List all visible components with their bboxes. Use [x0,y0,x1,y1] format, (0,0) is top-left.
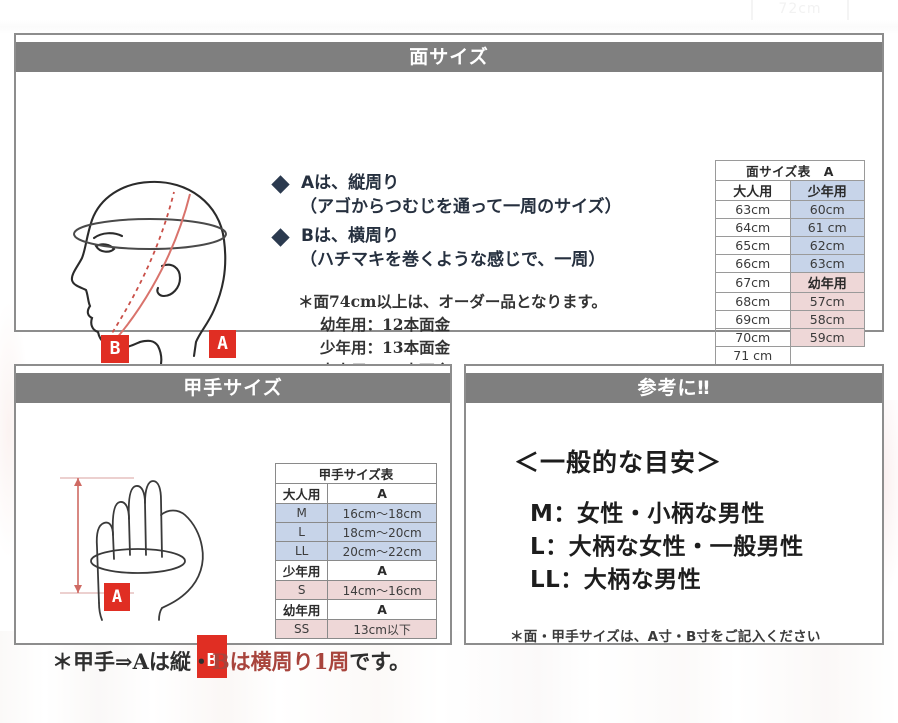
face-cell-youth: 62cm [790,237,865,255]
glove-caption: ＊甲手⇒Aは縦・Bは横周り1周です。 [52,646,410,676]
table-row: L18cm〜20cm [276,523,437,542]
glove-youth-range: 14cm〜16cm [328,581,437,600]
face-note-1: 幼年用：12本面金 [298,313,698,336]
face-note-0: ＊面74cm以上は、オーダー品となります。 [298,290,698,313]
face-cell-youth: 63cm [790,255,865,273]
glove-adult-range: 18cm〜20cm [328,523,437,542]
reference-item-l: L：大柄な女性・一般男性 [530,531,804,564]
glove-adult-range: 16cm〜18cm [328,504,437,523]
face-cell-adult: 69cm [716,311,791,329]
reference-item-ll: LL：大柄な男性 [530,564,804,597]
table-row: 67cm幼年用 [716,273,865,293]
glove-youth-range: A [328,600,437,620]
glove-adult-head: 甲手サイズ表 大人用 A [276,464,437,504]
face-cell-adult: 66cm [716,255,791,273]
face-size-body: B A Aは、縦周り （アゴからつむじを通って一周のサイズ） Bは、横周り （ハ… [16,72,882,330]
table-row: LL20cm〜22cm [276,542,437,561]
face-bullet-b: Bは、横周り [274,225,704,247]
table-row: S14cm〜16cm [276,581,437,600]
table-row: 69cm58cm [716,311,865,329]
table-row: 65cm62cm [716,237,865,255]
face-table-header-adult: 大人用 [716,181,791,201]
glove-measurement-diagram: A B [42,463,267,638]
glove-youth-range: A [328,561,437,581]
table-row: 71 cm [716,347,865,365]
face-cell-youth: 60cm [790,201,865,219]
face-size-panel: 面サイズ [14,33,884,332]
head-measurement-diagram: B A [38,170,270,370]
face-bullet-a: Aは、縦周り [274,172,704,194]
face-note-2: 少年用：13本面金 [298,336,698,359]
face-cell-youth: 58cm [790,311,865,329]
reference-note: ＊面・甲手サイズは、A寸・B寸をご記入ください [510,625,821,645]
glove-adult-range: 20cm〜22cm [328,542,437,561]
glove-caption-black: ＊甲手⇒Aは縦・ [52,649,212,674]
glove-adult-header-0: 大人用 [276,484,328,504]
glove-youth-rows: 少年用AS14cm〜16cm幼年用ASS13cm以下 [276,561,437,639]
face-cell-youth: 59cm [790,329,865,347]
face-cell-youth: 61 cm [790,219,865,237]
table-row: 大人用 少年用 [716,181,865,201]
glove-youth-size: S [276,581,328,600]
glove-adult-size: LL [276,542,328,561]
glove-youth-size: 幼年用 [276,600,328,620]
glove-caption-red: Bは横周り1周 [212,649,349,674]
head-tag-a: A [209,330,236,358]
table-row: 64cm61 cm [716,219,865,237]
face-size-table-body: 面サイズ表 A 大人用 少年用 [716,161,865,201]
glove-size-panel: 甲手サイズ [14,364,452,645]
reference-title: ＜一般的な目安＞ [514,443,722,479]
face-cell-youth: 幼年用 [790,273,865,293]
face-table-header-youth: 少年用 [790,181,865,201]
head-tag-b: B [101,335,129,363]
glove-youth-range: 13cm以下 [328,620,437,639]
table-row: 70cm59cm [716,329,865,347]
reference-header: 参考に‼ [466,373,882,403]
glove-size-table-youth: 少年用AS14cm〜16cm幼年用ASS13cm以下 [275,560,437,639]
glove-size-body: A B 甲手サイズ表 大人用 A M16cm〜18cmL18cm〜20cmLL2… [16,403,450,643]
face-cell-youth: 57cm [790,293,865,311]
face-cell-adult: 70cm [716,329,791,347]
table-row: 63cm60cm [716,201,865,219]
diamond-bullet-icon [271,228,289,246]
table-row: 甲手サイズ表 [276,464,437,484]
glove-table-title: 甲手サイズ表 [276,464,437,484]
glove-adult-header-1: A [328,484,437,504]
table-row: SS13cm以下 [276,620,437,639]
glove-size-header: 甲手サイズ [16,373,450,403]
background-band [0,20,898,34]
glove-illustration-svg [42,463,267,638]
reference-list: M：女性・小柄な男性 L：大柄な女性・一般男性 LL：大柄な男性 [530,498,804,597]
glove-adult-rows: M16cm〜18cmL18cm〜20cmLL20cm〜22cm [276,504,437,561]
table-row: 面サイズ表 A [716,161,865,181]
glove-adult-size: M [276,504,328,523]
face-cell-adult: 67cm [716,273,791,293]
glove-youth-size: 少年用 [276,561,328,581]
face-cell-adult: 64cm [716,219,791,237]
glove-adult-size: L [276,523,328,542]
table-row: 少年用A [276,561,437,581]
glove-size-table-adult: 甲手サイズ表 大人用 A M16cm〜18cmL18cm〜20cmLL20cm〜… [275,463,437,561]
face-size-header: 面サイズ [16,42,882,72]
face-cell-adult: 68cm [716,293,791,311]
reference-item-m: M：女性・小柄な男性 [530,498,804,531]
face-cell-adult: 63cm [716,201,791,219]
glove-caption-tail: です。 [349,649,410,674]
face-cell-youth [790,347,865,365]
face-instructions: Aは、縦周り （アゴからつむじを通って一周のサイズ） Bは、横周り （ハチマキを… [274,172,704,278]
table-row: 大人用 A [276,484,437,504]
table-row: 66cm63cm [716,255,865,273]
face-bullet-a-sub: （アゴからつむじを通って一周のサイズ） [300,195,704,219]
face-bullet-a-main: Aは、縦周り [301,172,399,194]
reference-body: ＜一般的な目安＞ M：女性・小柄な男性 L：大柄な女性・一般男性 LL：大柄な男… [466,403,882,643]
face-bullet-b-main: Bは、横周り [301,225,399,247]
table-row: 68cm57cm [716,293,865,311]
face-cell-adult: 65cm [716,237,791,255]
table-row: 幼年用A [276,600,437,620]
diamond-bullet-icon [271,175,289,193]
reference-panel: 参考に‼ ＜一般的な目安＞ M：女性・小柄な男性 L：大柄な女性・一般男性 LL… [464,364,884,645]
glove-youth-size: SS [276,620,328,639]
face-table-title: 面サイズ表 A [716,161,865,181]
face-bullet-b-sub: （ハチマキを巻くような感じで、一周） [300,248,704,272]
glove-tag-a: A [104,583,130,611]
face-cell-adult: 71 cm [716,347,791,365]
table-row: M16cm〜18cm [276,504,437,523]
